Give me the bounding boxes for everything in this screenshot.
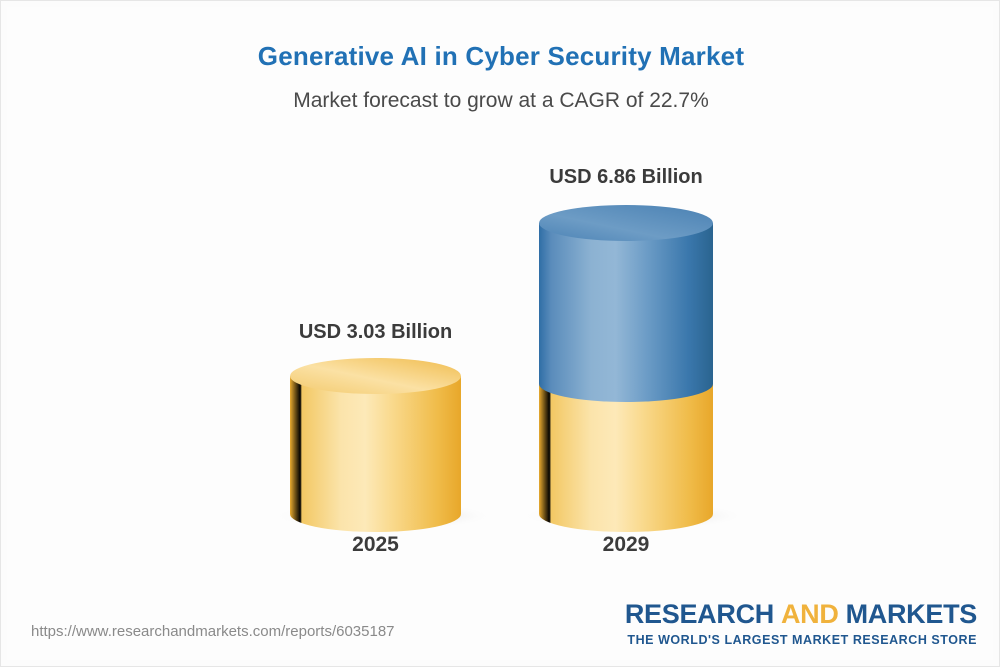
bar-top-2029 bbox=[539, 205, 713, 241]
bar-cylinder-2029 bbox=[539, 205, 713, 532]
bar-top-2025 bbox=[290, 358, 461, 394]
infographic-canvas: Generative AI in Cyber Security Market M… bbox=[0, 0, 1000, 667]
value-label-2025: USD 3.03 Billion bbox=[290, 321, 461, 344]
category-label-2025: 2025 bbox=[290, 533, 461, 557]
brand-word-markets: MARKETS bbox=[846, 599, 977, 629]
source-url[interactable]: https://www.researchandmarkets.com/repor… bbox=[31, 623, 395, 640]
bar-body-2029-gold bbox=[539, 384, 713, 532]
bar-body-2025 bbox=[290, 376, 461, 532]
brand-logo-wordmark: RESEARCHANDMARKETS bbox=[625, 601, 977, 628]
value-label-2029: USD 6.86 Billion bbox=[539, 166, 713, 189]
bar-body-2029-blue bbox=[539, 223, 713, 402]
brand-logo[interactable]: RESEARCHANDMARKETS THE WORLD'S LARGEST M… bbox=[625, 601, 977, 647]
cylinder-bar-chart bbox=[1, 1, 1000, 667]
brand-word-and: AND bbox=[781, 599, 839, 629]
bar-cylinder-2025 bbox=[290, 358, 461, 532]
brand-tagline: THE WORLD'S LARGEST MARKET RESEARCH STOR… bbox=[625, 633, 977, 647]
category-label-2029: 2029 bbox=[539, 533, 713, 557]
brand-word-research: RESEARCH bbox=[625, 599, 774, 629]
